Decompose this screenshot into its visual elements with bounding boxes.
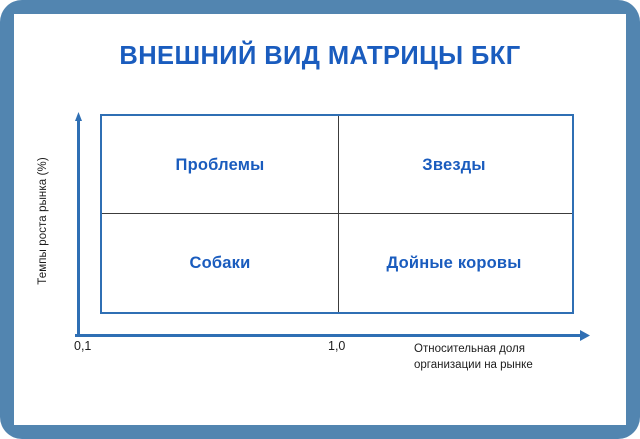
y-axis-arrow-icon bbox=[75, 112, 82, 336]
x-axis-title-line1: Относительная доля bbox=[414, 341, 604, 357]
matrix-grid: Проблемы Звезды Собаки Дойные коровы bbox=[100, 114, 574, 314]
quadrant-cash-cows[interactable]: Дойные коровы bbox=[336, 214, 572, 312]
y-axis-label: Темпы роста рынка (%) bbox=[37, 121, 49, 321]
x-axis-arrow bbox=[75, 328, 590, 339]
quadrant-stars[interactable]: Звезды bbox=[336, 116, 572, 214]
x-axis-title: Относительная доля организации на рынке bbox=[414, 341, 604, 373]
y-axis-arrow bbox=[75, 112, 82, 336]
x-axis-title-line2: организации на рынке bbox=[414, 357, 604, 373]
x-tick-label-high: 1,0 bbox=[328, 339, 345, 353]
x-tick-label-low: 0,1 bbox=[74, 339, 91, 353]
quadrant-question-marks[interactable]: Проблемы bbox=[102, 116, 338, 214]
page-title: ВНЕШНИЙ ВИД МАТРИЦЫ БКГ bbox=[0, 42, 640, 71]
quadrant-dogs[interactable]: Собаки bbox=[102, 214, 338, 312]
bcg-matrix-slide: ВНЕШНИЙ ВИД МАТРИЦЫ БКГ Темпы роста рынк… bbox=[0, 0, 640, 439]
